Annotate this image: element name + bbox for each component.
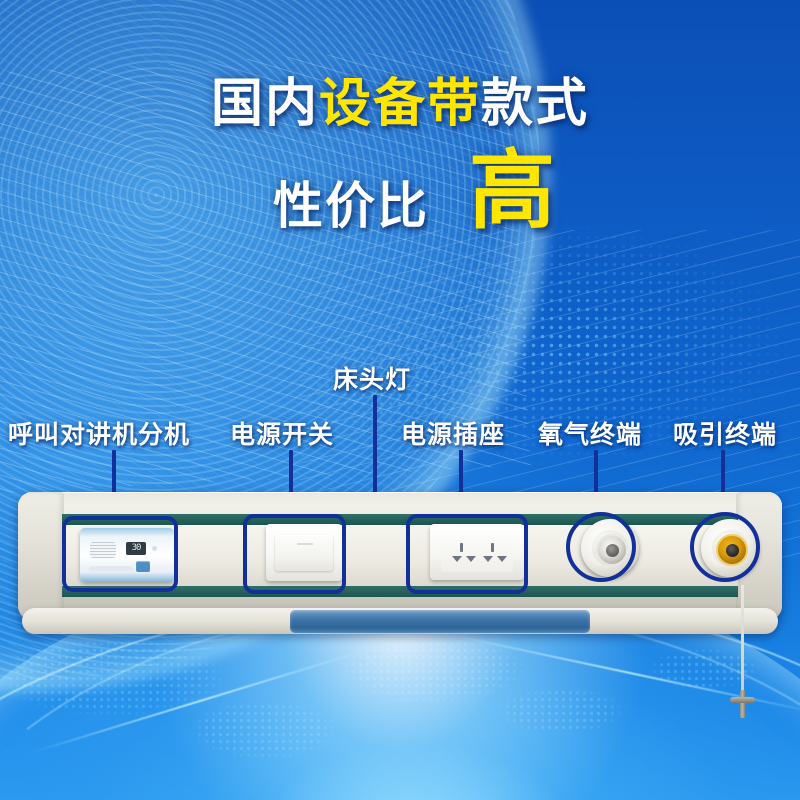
pull-cord-handle-vertical (740, 690, 746, 718)
callout-label-power-switch: 电源开关 (230, 415, 334, 451)
callout-label-power-socket: 电源插座 (401, 415, 505, 451)
pull-cord[interactable] (741, 585, 744, 695)
bed-lamp-diffuser (290, 610, 590, 633)
headline-line-1: 国内设备带款式 (0, 78, 800, 130)
headline-text-value-for-money: 性价比 (273, 181, 429, 231)
callout-label-bed-lamp: 床头灯 (333, 360, 411, 396)
headline-text-domestic: 国内 (211, 75, 319, 133)
headline-text-high: 高 (469, 152, 557, 231)
promo-image: 国内设备带款式 性价比 高 呼叫对讲机分机 电源开关 床头灯 电源插座 氧气终端… (0, 0, 800, 800)
headline-text-style: 款式 (481, 75, 589, 133)
panel-end-cap-left (18, 492, 64, 620)
callout-label-suction-terminal: 吸引终端 (673, 415, 777, 451)
highlight-circle-suction (690, 512, 760, 582)
callout-label-oxygen-terminal: 氧气终端 (538, 415, 642, 451)
highlight-circle-oxygen (566, 512, 636, 582)
headline-block: 国内设备带款式 性价比 高 (0, 78, 800, 231)
headline-line-2: 性价比 高 (0, 152, 800, 231)
highlight-box-power-socket (406, 514, 528, 594)
highlight-box-power-switch (243, 514, 346, 594)
callout-label-nurse-call-intercom: 呼叫对讲机分机 (8, 415, 190, 451)
headline-text-bedhead-unit: 设备带 (319, 75, 481, 133)
highlight-box-intercom (62, 516, 178, 592)
pull-cord-handle-horizontal (730, 697, 755, 703)
pull-cord-handle[interactable] (730, 690, 755, 718)
